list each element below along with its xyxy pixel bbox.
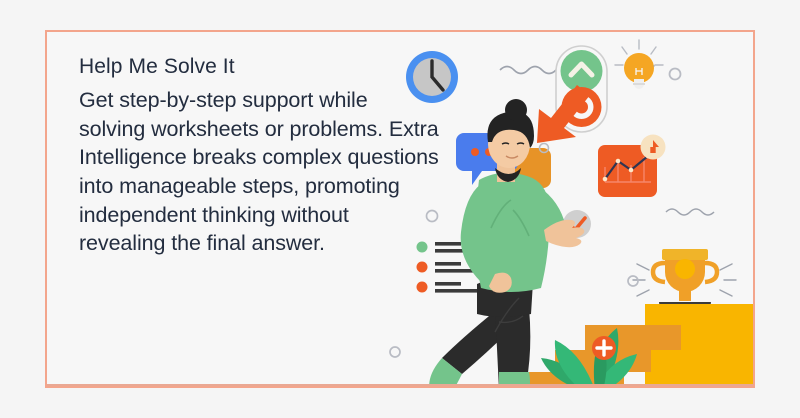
- dot-circle-icon-5: [540, 144, 549, 153]
- ground-line: [47, 384, 753, 386]
- page-title: Help Me Solve It: [79, 54, 439, 80]
- dot-circle-icon-4: [548, 222, 560, 234]
- trophy-icon: [633, 66, 736, 325]
- text-block: Help Me Solve It Get step-by-step suppor…: [79, 54, 439, 258]
- dot-circle-icon: [670, 69, 681, 80]
- body-description: Get step-by-step support while solving w…: [79, 86, 439, 258]
- dot-circle-icon-6: [390, 347, 400, 357]
- stairs-graphic: [528, 304, 753, 386]
- screenshot-root: Help Me Solve It Get step-by-step suppor…: [0, 0, 800, 418]
- chat-bubbles-icon: [456, 133, 551, 202]
- plant-graphic: [541, 328, 637, 386]
- toggle-pill-icon: [556, 46, 607, 132]
- cursor-arrow-icon: [537, 85, 590, 143]
- feature-card: Help Me Solve It Get step-by-step suppor…: [45, 30, 755, 388]
- person-graphic: [429, 99, 584, 386]
- lightbulb-icon: [615, 40, 663, 89]
- squiggle-icon-2: [666, 209, 714, 215]
- check-badge-icon: [563, 210, 591, 238]
- chart-card-icon: [598, 135, 666, 198]
- dot-circle-icon-2: [628, 276, 638, 286]
- plus-badge-icon: [592, 336, 616, 360]
- squiggle-icon: [500, 67, 556, 74]
